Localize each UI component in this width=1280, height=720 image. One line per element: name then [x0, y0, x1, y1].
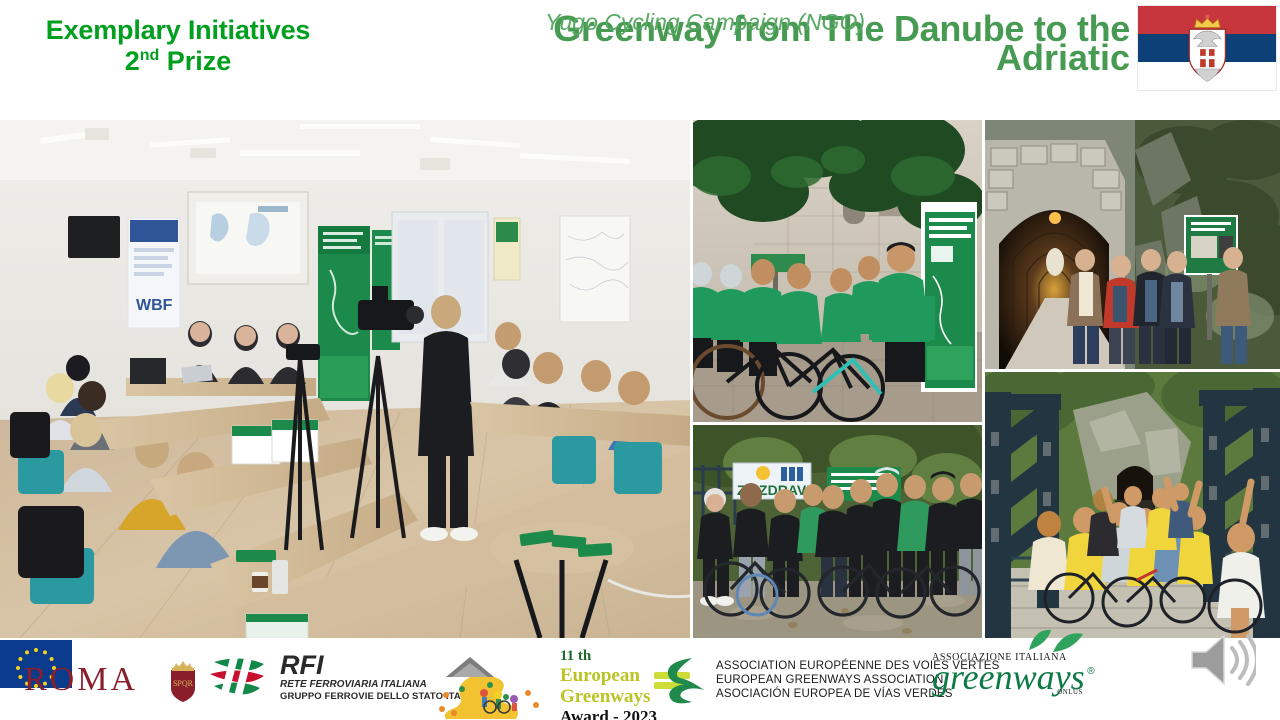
award-year-count: 11 th	[560, 648, 657, 665]
award-label-line2: 2nd Prize	[8, 47, 348, 76]
award-label-line1: Exemplary Initiatives	[8, 16, 348, 45]
logo-roma: ROMA SPQR	[24, 658, 198, 702]
aig-leaf-icon	[1025, 628, 1089, 654]
award-ordinal-suffix: nd	[140, 47, 160, 64]
photo-children-iron-bridge	[985, 372, 1280, 638]
page-title: Greenway from The Danube to the Yugo Cyc…	[430, 10, 1130, 79]
rfi-mark-icon	[208, 654, 274, 700]
svg-text:SPQR: SPQR	[173, 679, 194, 688]
photo-cyclists-green-shirts	[693, 120, 982, 422]
photo-cyclists-black-shirts: ZA ZDRAVLJA	[693, 425, 982, 638]
logo-associazione-italiana-greenways: ASSOCIAZIONE ITALIANA greenways ® ONLUS	[930, 652, 1085, 694]
speaker-audio-icon[interactable]	[1186, 630, 1256, 690]
slide-header: Exemplary Initiatives 2nd Prize Greenway…	[0, 0, 1280, 118]
logo-european-greenways-award: 11 th European Greenways Award - 2023	[432, 648, 657, 720]
svg-text:WBF: WBF	[136, 297, 173, 314]
greenways-award-illustration-icon	[432, 655, 552, 719]
aig-onlus-label: ONLUS	[1057, 688, 1082, 696]
slide-footer-logos: ROMA SPQR RFI RETE FERROVIARIA ITALIANA …	[0, 640, 1280, 720]
photo-collage: WBF	[0, 120, 1280, 638]
roma-shield-icon: SPQR	[168, 658, 198, 702]
aevv-e-mark-icon	[652, 656, 708, 704]
award-ordinal-number: 2	[125, 46, 140, 76]
award-line-european: European	[560, 665, 657, 686]
award-line-year: Award - 2023	[560, 707, 657, 720]
aig-registered-mark: ®	[1087, 666, 1094, 677]
award-prize-word: Prize	[159, 46, 231, 76]
roma-wordmark: ROMA	[24, 661, 138, 699]
photo-railway-tunnel-group	[985, 120, 1280, 369]
award-badge: Exemplary Initiatives 2nd Prize	[8, 16, 348, 76]
presentation-slide: Exemplary Initiatives 2nd Prize Greenway…	[0, 0, 1280, 720]
serbia-coat-of-arms-icon	[1177, 13, 1238, 85]
photo-conference-room: WBF	[0, 120, 690, 638]
award-line-greenways: Greenways	[560, 686, 657, 707]
serbia-flag-icon	[1137, 5, 1277, 91]
